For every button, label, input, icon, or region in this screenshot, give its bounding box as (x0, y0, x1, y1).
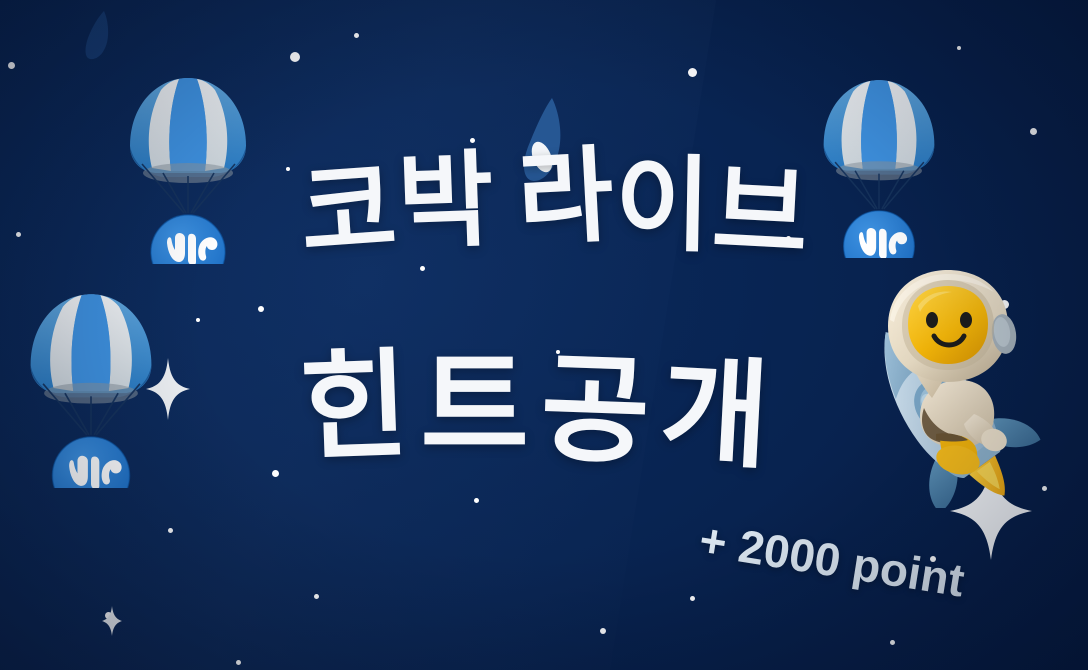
star-dot (236, 660, 241, 665)
reward-points-text: + 2000 point (696, 512, 968, 607)
parachute-with-coin (122, 72, 254, 264)
headline-char: 코 (297, 157, 402, 268)
star-dot (258, 306, 264, 312)
star-dot (600, 628, 606, 634)
parachute-with-coin (20, 288, 162, 488)
star-dot (196, 318, 200, 322)
star-dot (957, 46, 961, 50)
headline-char: 박 (396, 148, 497, 255)
star-dot (290, 52, 300, 62)
star-dot (890, 640, 895, 645)
star-dot (1030, 128, 1037, 135)
comet-icon (78, 10, 118, 62)
headline-char: 브 (710, 159, 813, 268)
headline-char: 트 (420, 348, 540, 466)
headline-char: 힌 (298, 346, 422, 468)
star-dot (354, 33, 359, 38)
star-dot (690, 596, 695, 601)
star-dot (272, 470, 279, 477)
star-dot (168, 528, 173, 533)
headline-line-2: 힌트 공개 (300, 348, 782, 466)
headline-char: 라 (515, 144, 618, 253)
star-dot (8, 62, 15, 69)
parachute-with-coin (816, 74, 942, 258)
star-dot (286, 167, 290, 171)
headline-char: 이 (614, 153, 714, 259)
star-dot (314, 594, 319, 599)
promo-banner: 코박라이브 힌트 공개 + 2000 point (0, 0, 1088, 670)
star-dot (16, 232, 21, 237)
star-dot (688, 68, 697, 77)
headline-char: 개 (658, 353, 784, 477)
star-dot (474, 498, 479, 503)
headline-char: 공 (539, 350, 663, 472)
star-dot (420, 266, 425, 271)
sparkle-star-icon (102, 606, 122, 636)
headline-line-1: 코박라이브 (300, 152, 811, 256)
astronaut-on-rocket (828, 268, 1068, 508)
